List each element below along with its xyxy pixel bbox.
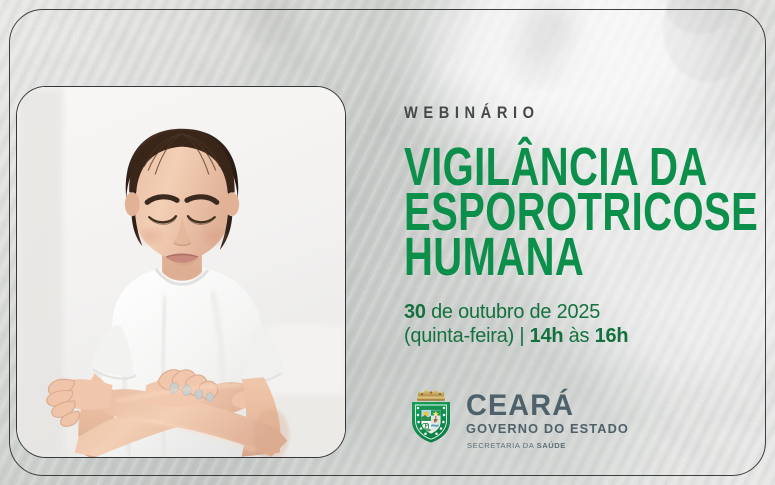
logo-government-label: GOVERNO DO ESTADO <box>466 421 629 436</box>
banner-text-column: WEBINÁRIO VIGILÂNCIA DA ESPOROTRICOSE HU… <box>404 104 764 348</box>
crown <box>417 389 445 401</box>
title-line-3: HUMANA <box>404 233 692 282</box>
logo-department-bold: SAÚDE <box>537 441 566 450</box>
hero-photo-card <box>16 86 346 458</box>
event-time-separator: às <box>563 324 594 347</box>
logo-state-name: CEARÁ <box>466 391 627 420</box>
event-weekday: (quinta-feira) | <box>404 324 530 347</box>
event-date-line: 30 de outubro de 2025 <box>404 300 753 324</box>
event-datetime: 30 de outubro de 2025 (quinta-feira) | 1… <box>404 300 753 348</box>
photo-woman-scratching-forearm <box>17 87 345 457</box>
kicker-webinario: WEBINÁRIO <box>404 104 714 121</box>
event-time-end: 16h <box>595 324 629 347</box>
logo-department-prefix: SECRETARIA DA <box>467 441 537 450</box>
event-time-start: 14h <box>530 324 564 347</box>
event-title: VIGILÂNCIA DA ESPOROTRICOSE HUMANA <box>404 143 764 278</box>
ghost-face-right-watermark <box>630 0 775 90</box>
event-day: 30 <box>404 300 426 323</box>
event-time-line: (quinta-feira) | 14h às 16h <box>404 324 753 348</box>
webinar-banner: WEBINÁRIO VIGILÂNCIA DA ESPOROTRICOSE HU… <box>0 0 775 485</box>
logo-department-label: SECRETARIA DA SAÚDE <box>467 440 634 451</box>
logo-text-block: CEARÁ GOVERNO DO ESTADO SECRETARIA DA SA… <box>466 384 634 451</box>
shield-icon <box>405 384 457 444</box>
event-month-year: de outubro de 2025 <box>426 300 600 323</box>
government-logo: CEARÁ GOVERNO DO ESTADO SECRETARIA DA SA… <box>405 384 634 451</box>
ghost-faces-watermark <box>210 0 630 90</box>
